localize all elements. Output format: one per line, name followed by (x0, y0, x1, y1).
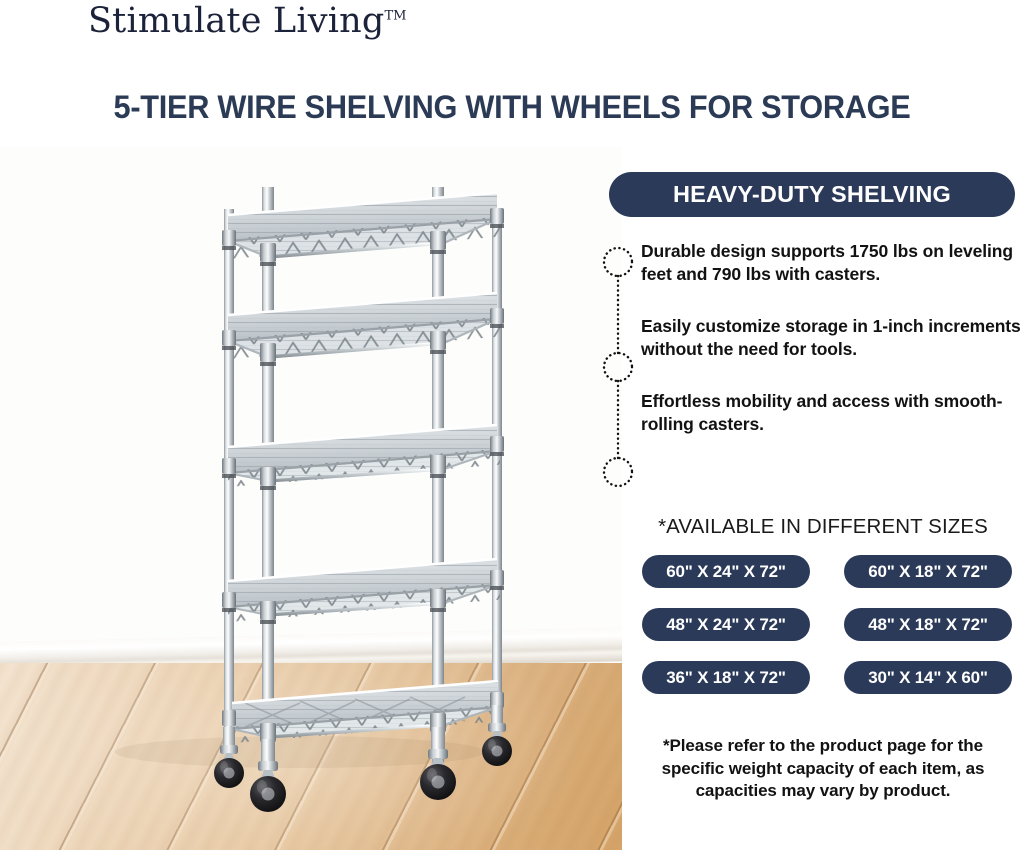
disclaimer-text: *Please refer to the product page for th… (630, 735, 1016, 803)
size-options-grid: 60" X 24" X 72" 60" X 18" X 72" 48" X 24… (642, 555, 1012, 694)
list-item: Durable design supports 1750 lbs on leve… (641, 240, 1024, 287)
feature-text: Effortless mobility and access with smoo… (641, 390, 1024, 437)
product-infographic: Stimulate LivingTM 5-TIER WIRE SHELVING … (0, 0, 1024, 850)
brand-logo: Stimulate LivingTM (88, 1, 406, 41)
brand-name: Stimulate Living (88, 1, 384, 41)
size-option[interactable]: 36" X 18" X 72" (642, 661, 810, 694)
size-option[interactable]: 48" X 18" X 72" (844, 608, 1012, 641)
bullet-marker-icon (604, 248, 632, 276)
feature-list: Durable design supports 1750 lbs on leve… (641, 240, 1024, 465)
feature-text: Easily customize storage in 1-inch incre… (641, 315, 1024, 362)
sizes-heading: *AVAILABLE IN DIFFERENT SIZES (622, 515, 1024, 539)
wire-shelving-unit (0, 147, 622, 850)
size-option[interactable]: 30" X 14" X 60" (844, 661, 1012, 694)
page-title: 5-TIER WIRE SHELVING WITH WHEELS FOR STO… (20, 89, 1003, 126)
size-option[interactable]: 60" X 18" X 72" (844, 555, 1012, 588)
size-option[interactable]: 48" X 24" X 72" (642, 608, 810, 641)
product-photo (0, 147, 622, 850)
bullet-marker-icon (604, 353, 632, 381)
info-panel: HEAVY-DUTY SHELVING Durable design suppo… (622, 147, 1024, 850)
bullet-connector-rail (595, 242, 641, 494)
size-option[interactable]: 60" X 24" X 72" (642, 555, 810, 588)
feature-text: Durable design supports 1750 lbs on leve… (641, 240, 1024, 287)
list-item: Easily customize storage in 1-inch incre… (641, 315, 1024, 362)
list-item: Effortless mobility and access with smoo… (641, 390, 1024, 437)
status-badge: HEAVY-DUTY SHELVING (609, 172, 1015, 217)
bullet-marker-icon (604, 458, 632, 486)
trademark-symbol: TM (384, 8, 406, 23)
